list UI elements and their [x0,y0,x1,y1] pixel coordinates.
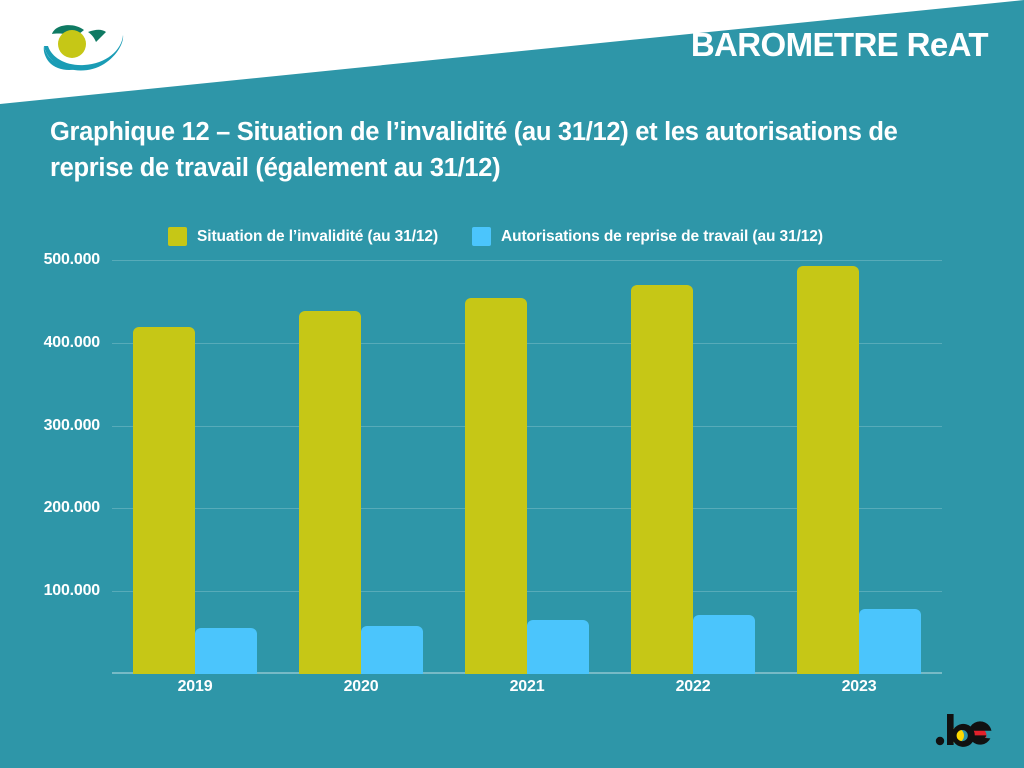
bar-resumption-2022 [693,615,755,674]
chart-plot-area: 100.000200.000300.000400.000500.000 [112,260,942,674]
bar-group [119,260,271,674]
header-band: BAROMETRE ReAT [0,0,1024,110]
x-axis-tick-label: 2021 [451,678,603,696]
bar-group [285,260,437,674]
y-axis-tick-label: 400.000 [8,334,100,352]
belgium-dot-be-logo [934,710,996,750]
legend-label-resumption: Autorisations de reprise de travail (au … [501,228,823,246]
bar-invalidity-2021 [465,298,527,674]
bar-resumption-2019 [195,628,257,674]
bar-resumption-2021 [527,620,589,674]
bar-resumption-2020 [361,626,423,674]
bar-invalidity-2019 [133,327,195,674]
bar-group [617,260,769,674]
riziv-inami-logo [22,16,134,88]
x-axis-tick-label: 2019 [119,678,271,696]
legend-swatch-invalidity [168,227,187,246]
bar-invalidity-2020 [299,311,361,674]
brand-title: BAROMETRE ReAT [691,26,988,64]
bar-group [451,260,603,674]
legend-item-resumption: Autorisations de reprise de travail (au … [472,227,823,246]
chart-legend: Situation de l’invalidité (au 31/12) Aut… [168,227,823,246]
slide-root: BAROMETRE ReAT Graphique 12 – Situation … [0,0,1024,768]
legend-item-invalidity: Situation de l’invalidité (au 31/12) [168,227,438,246]
page-title: Graphique 12 – Situation de l’invalidité… [50,114,980,186]
y-axis-tick-label: 200.000 [8,499,100,517]
y-axis-tick-label: 500.000 [8,251,100,269]
bar-resumption-2023 [859,609,921,674]
x-axis-tick-label: 2022 [617,678,769,696]
bar-group [783,260,935,674]
legend-label-invalidity: Situation de l’invalidité (au 31/12) [197,228,438,246]
bar-invalidity-2022 [631,285,693,674]
x-axis-tick-label: 2020 [285,678,437,696]
x-axis-tick-label: 2023 [783,678,935,696]
y-axis-tick-label: 300.000 [8,417,100,435]
chart-bar-groups [112,260,942,674]
legend-swatch-resumption [472,227,491,246]
bar-invalidity-2023 [797,266,859,674]
y-axis-tick-label: 100.000 [8,582,100,600]
chart-x-axis-labels: 20192020202120222023 [112,678,942,696]
